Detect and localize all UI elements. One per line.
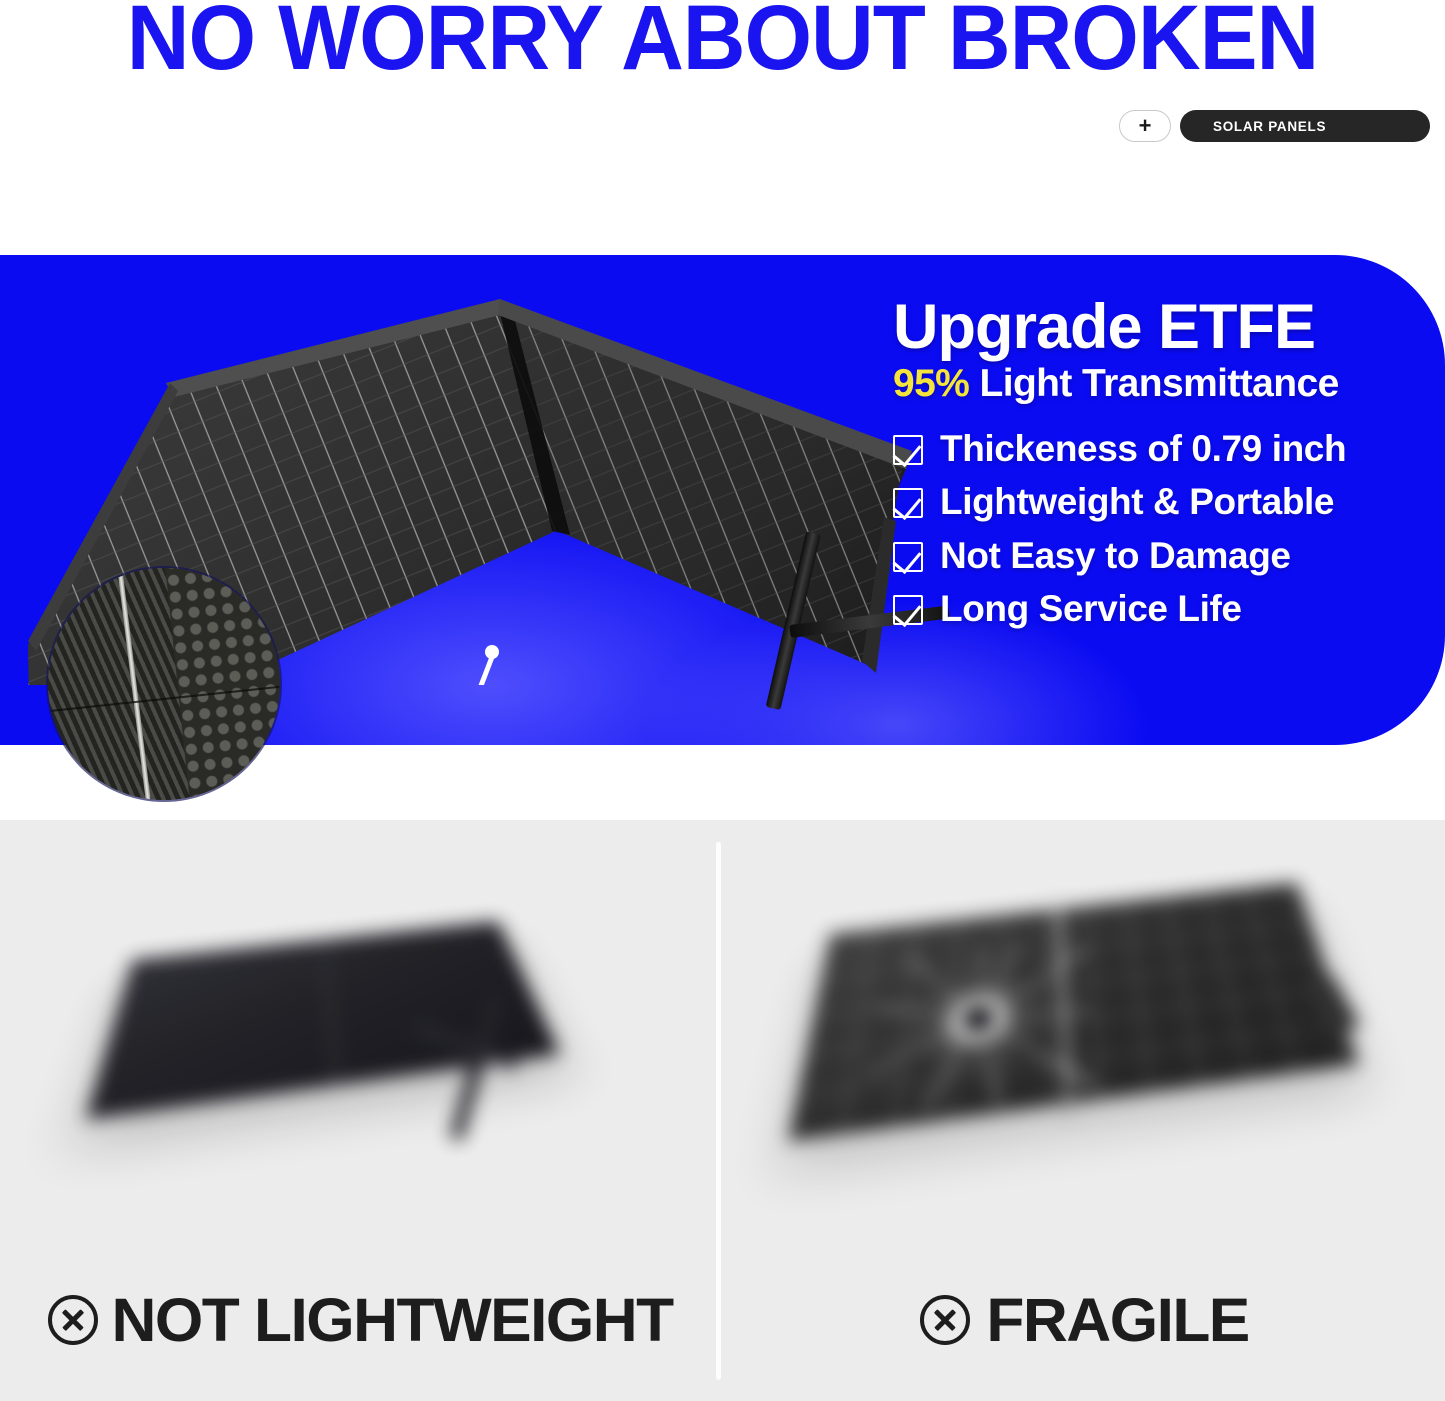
caption-fragile: FRAGILE (721, 1285, 1445, 1355)
feature-label: Lightweight & Portable (940, 481, 1334, 522)
blurred-cracked-panel-image (721, 830, 1445, 1230)
feature-label: Long Service Life (940, 588, 1242, 629)
feature-item: Not Easy to Damage (893, 535, 1438, 576)
plus-icon[interactable]: + (1119, 110, 1171, 142)
comparison-section: NOT LIGHTWEIGHT FRAGILE (0, 820, 1445, 1401)
blurred-heavy-panel-image (0, 830, 716, 1230)
shattered-glass-crack (862, 936, 1095, 1117)
panel-clip (1302, 974, 1362, 1035)
checkbox-checked-icon (893, 488, 923, 518)
feature-label: Thickeness of 0.79 inch (940, 428, 1346, 469)
transmittance-value: 95% (893, 362, 969, 405)
hero-subtitle: 95% Light Transmittance (893, 362, 1438, 406)
cracked-panel-body (787, 883, 1358, 1142)
checkbox-checked-icon (893, 542, 923, 572)
page-title: NO WORRY ABOUT BROKEN (0, 0, 1445, 94)
feature-item: Lightweight & Portable (893, 481, 1438, 522)
feature-label: Not Easy to Damage (940, 535, 1291, 576)
feature-item: Long Service Life (893, 588, 1438, 629)
checkbox-checked-icon (893, 435, 923, 465)
comparison-cell-fragile: FRAGILE (721, 820, 1445, 1401)
feature-item: Thickeness of 0.79 inch (893, 428, 1438, 469)
checkbox-checked-icon (893, 595, 923, 625)
caption-label: NOT LIGHTWEIGHT (112, 1285, 673, 1355)
comparison-cell-not-lightweight: NOT LIGHTWEIGHT (0, 820, 716, 1401)
transmittance-label: Light Transmittance (969, 362, 1338, 405)
panel-fold-line (323, 940, 339, 1086)
hero-title: Upgrade ETFE (893, 295, 1438, 360)
surface-texture-detail-circle (48, 568, 280, 800)
circle-x-icon (920, 1295, 970, 1345)
category-pill[interactable]: SOLAR PANELS (1180, 110, 1430, 142)
caption-not-lightweight: NOT LIGHTWEIGHT (0, 1285, 716, 1355)
badge-row: + SOLAR PANELS (1119, 110, 1430, 142)
feature-checklist: Thickeness of 0.79 inch Lightweight & Po… (893, 428, 1438, 630)
hero-text-block: Upgrade ETFE 95% Light Transmittance Thi… (893, 295, 1438, 642)
circle-x-icon (48, 1295, 98, 1345)
caption-label: FRAGILE (986, 1285, 1248, 1355)
